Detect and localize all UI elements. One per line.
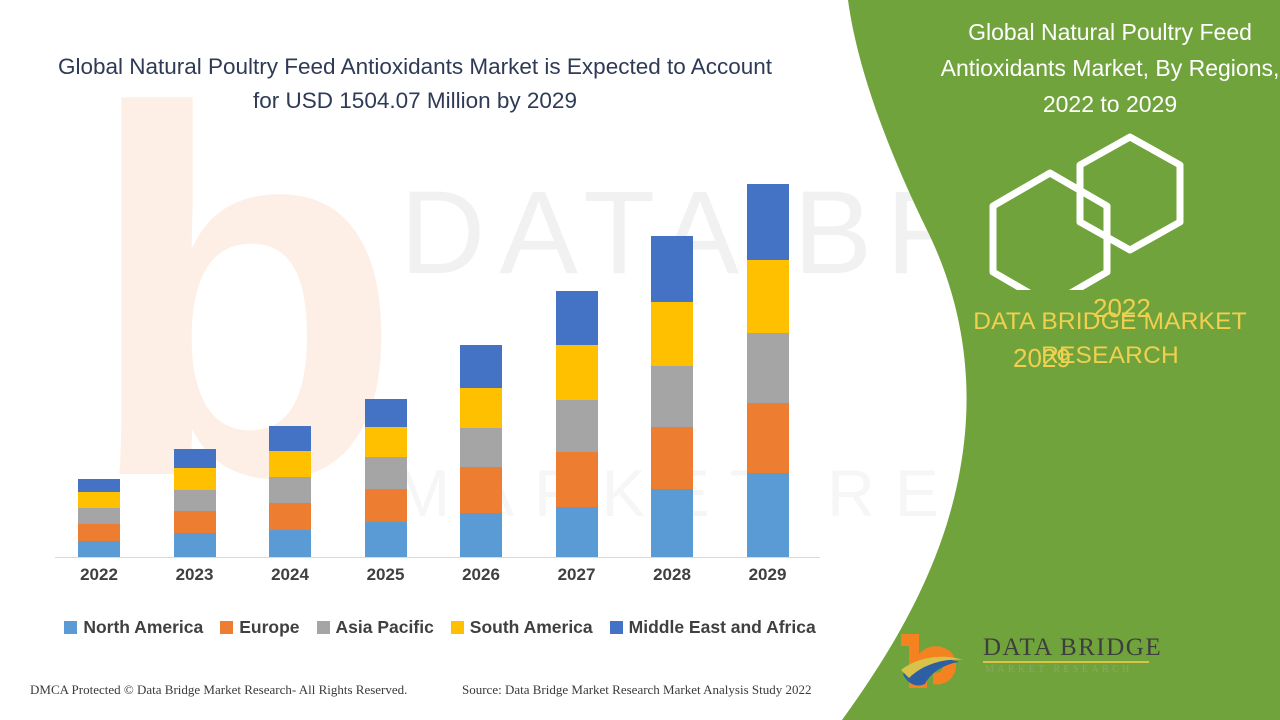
bar-segment[interactable] xyxy=(269,451,311,477)
bar-segment[interactable] xyxy=(556,507,598,557)
chart-panel: Global Natural Poultry Feed Antioxidants… xyxy=(0,0,860,720)
bar-segment[interactable] xyxy=(78,524,120,541)
chart-plot-area xyxy=(55,150,820,558)
legend-label: Europe xyxy=(239,617,299,638)
legend-swatch-icon xyxy=(451,621,464,634)
bar-segment[interactable] xyxy=(747,184,789,260)
legend-item-0[interactable]: North America xyxy=(64,617,203,638)
panel-title: Global Natural Poultry Feed Antioxidants… xyxy=(940,14,1280,122)
bar-segment[interactable] xyxy=(651,427,693,489)
bar-segment[interactable] xyxy=(460,513,502,557)
bar-segment[interactable] xyxy=(460,428,502,467)
logo-subtext: MARKET RESEARCH xyxy=(985,664,1133,675)
bar-2022[interactable] xyxy=(78,479,120,557)
bar-segment[interactable] xyxy=(651,302,693,366)
green-panel-content: Global Natural Poultry Feed Antioxidants… xyxy=(940,0,1280,720)
bar-segment[interactable] xyxy=(78,541,120,557)
bar-segment[interactable] xyxy=(78,508,120,524)
bar-2027[interactable] xyxy=(556,291,598,557)
bar-segment[interactable] xyxy=(365,489,407,522)
x-axis-label-2025: 2025 xyxy=(365,565,407,585)
x-axis-label-2026: 2026 xyxy=(460,565,502,585)
x-axis-label-2022: 2022 xyxy=(78,565,120,585)
x-axis-line xyxy=(55,557,820,558)
x-axis-label-2029: 2029 xyxy=(747,565,789,585)
x-axis-label-2023: 2023 xyxy=(174,565,216,585)
legend-swatch-icon xyxy=(220,621,233,634)
hexagon-badge-group: 2022 2029 xyxy=(940,125,1280,290)
bar-2023[interactable] xyxy=(174,449,216,557)
chart-legend: North AmericaEuropeAsia PacificSouth Ame… xyxy=(55,617,825,638)
legend-swatch-icon xyxy=(64,621,77,634)
bar-segment[interactable] xyxy=(78,479,120,492)
bar-segment[interactable] xyxy=(365,522,407,557)
bar-segment[interactable] xyxy=(78,492,120,508)
bar-segment[interactable] xyxy=(174,511,216,533)
legend-item-1[interactable]: Europe xyxy=(220,617,299,638)
legend-item-4[interactable]: Middle East and Africa xyxy=(610,617,816,638)
legend-item-2[interactable]: Asia Pacific xyxy=(317,617,434,638)
legend-swatch-icon xyxy=(317,621,330,634)
bar-segment[interactable] xyxy=(365,399,407,427)
bar-segment[interactable] xyxy=(556,345,598,400)
bar-segment[interactable] xyxy=(365,427,407,457)
bar-2026[interactable] xyxy=(460,345,502,557)
logo-wordmark: DATA BRIDGE xyxy=(983,634,1162,662)
bar-segment[interactable] xyxy=(365,457,407,489)
bar-segment[interactable] xyxy=(460,467,502,513)
chart-title: Global Natural Poultry Feed Antioxidants… xyxy=(55,50,775,118)
x-axis-label-2024: 2024 xyxy=(269,565,311,585)
bar-segment[interactable] xyxy=(174,490,216,511)
bar-segment[interactable] xyxy=(747,473,789,557)
legend-label: North America xyxy=(83,617,203,638)
bar-2025[interactable] xyxy=(365,399,407,557)
legend-label: Middle East and Africa xyxy=(629,617,816,638)
legend-swatch-icon xyxy=(610,621,623,634)
footer: DMCA Protected © Data Bridge Market Rese… xyxy=(0,682,860,706)
x-axis-label-2028: 2028 xyxy=(651,565,693,585)
footer-dmca-notice: DMCA Protected © Data Bridge Market Rese… xyxy=(30,682,407,698)
bar-segment[interactable] xyxy=(269,530,311,557)
brand-logo: DATA BRIDGE MARKET RESEARCH xyxy=(895,630,1155,694)
legend-label: South America xyxy=(470,617,593,638)
bar-segment[interactable] xyxy=(651,489,693,557)
bar-segment[interactable] xyxy=(747,333,789,403)
hexagon-outlines xyxy=(940,125,1280,290)
x-axis-labels: 20222023202420252026202720282029 xyxy=(55,565,820,595)
brand-logo-mark xyxy=(895,630,981,692)
bar-segment[interactable] xyxy=(556,291,598,345)
bar-segment[interactable] xyxy=(747,403,789,473)
bar-segment[interactable] xyxy=(556,400,598,452)
bar-segment[interactable] xyxy=(651,366,693,427)
x-axis-label-2027: 2027 xyxy=(556,565,598,585)
footer-source-note: Source: Data Bridge Market Research Mark… xyxy=(462,682,811,698)
bar-2028[interactable] xyxy=(651,236,693,557)
bar-segment[interactable] xyxy=(174,533,216,557)
bar-segment[interactable] xyxy=(460,388,502,428)
bar-segment[interactable] xyxy=(651,236,693,302)
bar-2029[interactable] xyxy=(747,184,789,557)
hexagon-2022-outline xyxy=(1080,137,1180,250)
bar-segment[interactable] xyxy=(174,468,216,490)
bar-segment[interactable] xyxy=(460,345,502,388)
legend-item-3[interactable]: South America xyxy=(451,617,593,638)
bar-segment[interactable] xyxy=(269,503,311,530)
bar-2024[interactable] xyxy=(269,426,311,557)
bar-segment[interactable] xyxy=(269,477,311,503)
bar-segment[interactable] xyxy=(556,452,598,507)
legend-label: Asia Pacific xyxy=(336,617,434,638)
bar-segment[interactable] xyxy=(174,449,216,468)
bar-segment[interactable] xyxy=(747,260,789,333)
brand-name-text: DATA BRIDGE MARKET RESEARCH xyxy=(940,305,1280,373)
bar-segment[interactable] xyxy=(269,426,311,451)
